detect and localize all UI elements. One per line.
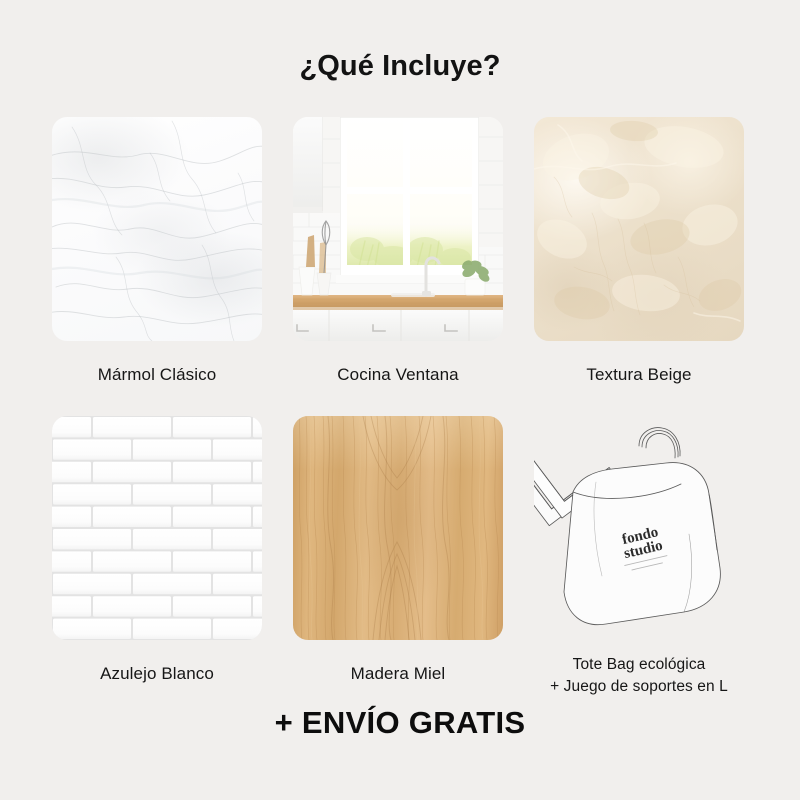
caption-tote-bag: Tote Bag ecológica + Juego de soportes e… — [534, 654, 744, 699]
page-title: ¿Qué Incluye? — [0, 50, 800, 83]
beige-plaster-texture-icon — [534, 117, 744, 341]
grid-item-tote-bag[interactable]: fondo studio Tote Bag ecológica + Juego … — [534, 416, 744, 699]
wood-grain-icon — [293, 416, 503, 640]
swatch-beige-texture[interactable] — [534, 117, 744, 341]
swatch-honey-wood[interactable] — [293, 416, 503, 640]
grid-item-cocina-ventana[interactable]: Cocina Ventana — [293, 117, 503, 386]
kitchen-window-illustration-icon — [293, 117, 503, 341]
caption-textura-beige: Textura Beige — [534, 364, 744, 386]
grid-item-madera-miel[interactable]: Madera Miel — [293, 416, 503, 699]
tote-bag-icon: fondo studio — [534, 416, 744, 640]
grid-item-marmol-clasico[interactable]: Mármol Clásico — [52, 117, 262, 386]
grid-item-azulejo-blanco[interactable]: Azulejo Blanco — [52, 416, 262, 699]
subway-tile-pattern-icon — [52, 416, 262, 640]
caption-tote-bag-line2: + Juego de soportes en L — [534, 676, 744, 698]
swatch-tote-bag-lineart[interactable]: fondo studio — [534, 416, 744, 640]
swatch-kitchen-window-photo[interactable] — [293, 117, 503, 341]
caption-marmol-clasico: Mármol Clásico — [52, 364, 262, 386]
caption-madera-miel: Madera Miel — [293, 663, 503, 685]
free-shipping-label: + ENVÍO GRATIS — [0, 705, 800, 741]
includes-grid: Mármol Clásico — [52, 117, 748, 699]
swatch-marble[interactable] — [52, 117, 262, 341]
swatch-subway-tile[interactable] — [52, 416, 262, 640]
promo-page: ¿Qué Incluye? — [0, 0, 800, 800]
grid-item-textura-beige[interactable]: Textura Beige — [534, 117, 744, 386]
caption-azulejo-blanco: Azulejo Blanco — [52, 663, 262, 685]
caption-tote-bag-line1: Tote Bag ecológica — [534, 654, 744, 676]
marble-veining-icon — [52, 117, 262, 341]
caption-cocina-ventana: Cocina Ventana — [293, 364, 503, 386]
